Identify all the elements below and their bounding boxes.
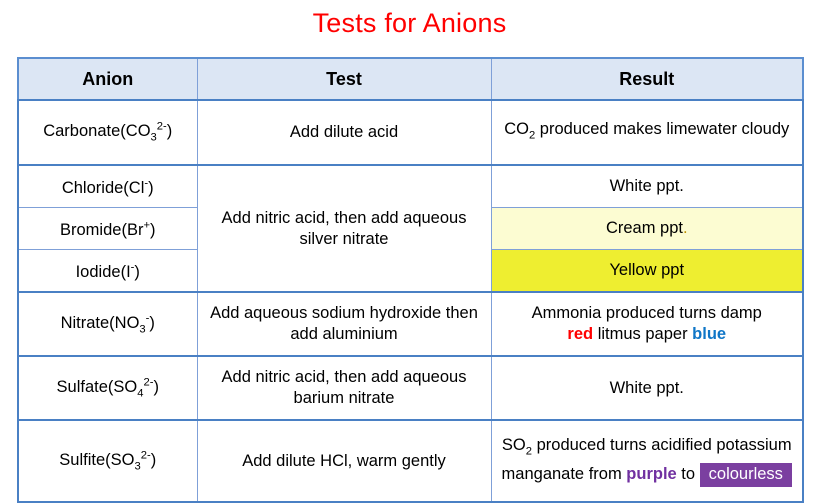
anion-bromide-formula-sup: + bbox=[143, 220, 150, 232]
result-sulfite-purple: purple bbox=[626, 465, 676, 483]
column-header-anion: Anion bbox=[18, 58, 197, 100]
result-nitrate-line1: Ammonia produced turns damp bbox=[532, 304, 762, 322]
anion-bromide-formula-base: Br bbox=[127, 221, 144, 239]
anion-carbonate-formula-base: CO bbox=[126, 122, 151, 140]
anion-carbonate-formula-sub: 3 bbox=[151, 131, 157, 143]
table-row-chloride: Chloride(Cl-) Add nitric acid, then add … bbox=[18, 165, 803, 208]
anion-sulfite-formula-base: SO bbox=[111, 451, 135, 469]
test-sulfate: Add nitric acid, then add aqueous barium… bbox=[197, 356, 491, 420]
test-halides: Add nitric acid, then add aqueous silver… bbox=[197, 165, 491, 292]
anion-chloride: Chloride(Cl-) bbox=[18, 165, 197, 208]
anion-nitrate: Nitrate(NO3-) bbox=[18, 292, 197, 356]
result-sulfite: SO2 produced turns acidified potassium m… bbox=[491, 420, 803, 502]
test-nitrate: Add aqueous sodium hydroxide then add al… bbox=[197, 292, 491, 356]
table-row-sulfite: Sulfite(SO32-) Add dilute HCl, warm gent… bbox=[18, 420, 803, 502]
result-bromide: Cream ppt. bbox=[491, 208, 803, 250]
column-header-test: Test bbox=[197, 58, 491, 100]
test-sulfite: Add dilute HCl, warm gently bbox=[197, 420, 491, 502]
table-row-sulfate: Sulfate(SO42-) Add nitric acid, then add… bbox=[18, 356, 803, 420]
table-header-row: Anion Test Result bbox=[18, 58, 803, 100]
result-carbonate: CO2 produced makes limewater cloudy bbox=[491, 100, 803, 165]
anion-sulfite: Sulfite(SO32-) bbox=[18, 420, 197, 502]
anion-nitrate-formula-sup: - bbox=[146, 312, 150, 324]
anion-sulfite-formula-sub: 3 bbox=[134, 460, 140, 472]
result-bromide-text: Cream ppt bbox=[606, 219, 683, 237]
anion-bromide-name: Bromide bbox=[60, 221, 121, 239]
result-nitrate: Ammonia produced turns damp red litmus p… bbox=[491, 292, 803, 356]
anion-sulfate-formula-sup: 2- bbox=[143, 376, 153, 388]
anion-carbonate-formula-sup: 2- bbox=[157, 121, 167, 133]
anion-sulfate-formula-base: SO bbox=[113, 378, 137, 396]
test-carbonate: Add dilute acid bbox=[197, 100, 491, 165]
anion-chloride-formula-sup: - bbox=[144, 178, 148, 190]
result-sulfate: White ppt. bbox=[491, 356, 803, 420]
anion-iodide-formula-sup: - bbox=[131, 262, 135, 274]
result-nitrate-red: red bbox=[567, 325, 593, 343]
anion-sulfate: Sulfate(SO42-) bbox=[18, 356, 197, 420]
result-iodide: Yellow ppt bbox=[491, 250, 803, 293]
anion-nitrate-formula-base: NO bbox=[115, 314, 140, 332]
result-carbonate-prefix: CO bbox=[504, 120, 529, 138]
result-sulfite-prefix: SO bbox=[502, 436, 526, 454]
anion-chloride-name: Chloride bbox=[62, 179, 123, 197]
column-header-result: Result bbox=[491, 58, 803, 100]
anion-nitrate-formula-sub: 3 bbox=[139, 323, 145, 335]
anion-carbonate-name: Carbonate bbox=[43, 122, 120, 140]
anion-sulfite-name: Sulfite bbox=[59, 451, 105, 469]
anion-tests-table: Anion Test Result Carbonate(CO32-) Add d… bbox=[17, 57, 804, 503]
anion-tests-page: Tests for Anions Anion Test Result Carbo… bbox=[0, 0, 819, 495]
anion-sulfate-formula-sub: 4 bbox=[137, 387, 143, 399]
page-title: Tests for Anions bbox=[0, 6, 819, 40]
anion-carbonate: Carbonate(CO32-) bbox=[18, 100, 197, 165]
anion-iodide: Iodide(I-) bbox=[18, 250, 197, 293]
anion-sulfate-name: Sulfate bbox=[57, 378, 108, 396]
result-sulfite-to: to bbox=[677, 465, 700, 483]
anion-chloride-formula-base: Cl bbox=[129, 179, 145, 197]
anion-bromide: Bromide(Br+) bbox=[18, 208, 197, 250]
anion-sulfite-formula-sup: 2- bbox=[141, 449, 151, 461]
table-row-nitrate: Nitrate(NO3-) Add aqueous sodium hydroxi… bbox=[18, 292, 803, 356]
result-nitrate-blue: blue bbox=[692, 325, 726, 343]
result-chloride: White ppt. bbox=[491, 165, 803, 208]
result-bromide-dot: . bbox=[683, 219, 688, 237]
result-carbonate-rest: produced makes limewater cloudy bbox=[535, 120, 789, 138]
result-nitrate-mid: litmus paper bbox=[593, 325, 692, 343]
result-sulfite-colourless-chip: colourless bbox=[700, 463, 792, 487]
anion-nitrate-name: Nitrate bbox=[61, 314, 110, 332]
table-row-carbonate: Carbonate(CO32-) Add dilute acid CO2 pro… bbox=[18, 100, 803, 165]
anion-iodide-name: Iodide bbox=[76, 263, 121, 281]
